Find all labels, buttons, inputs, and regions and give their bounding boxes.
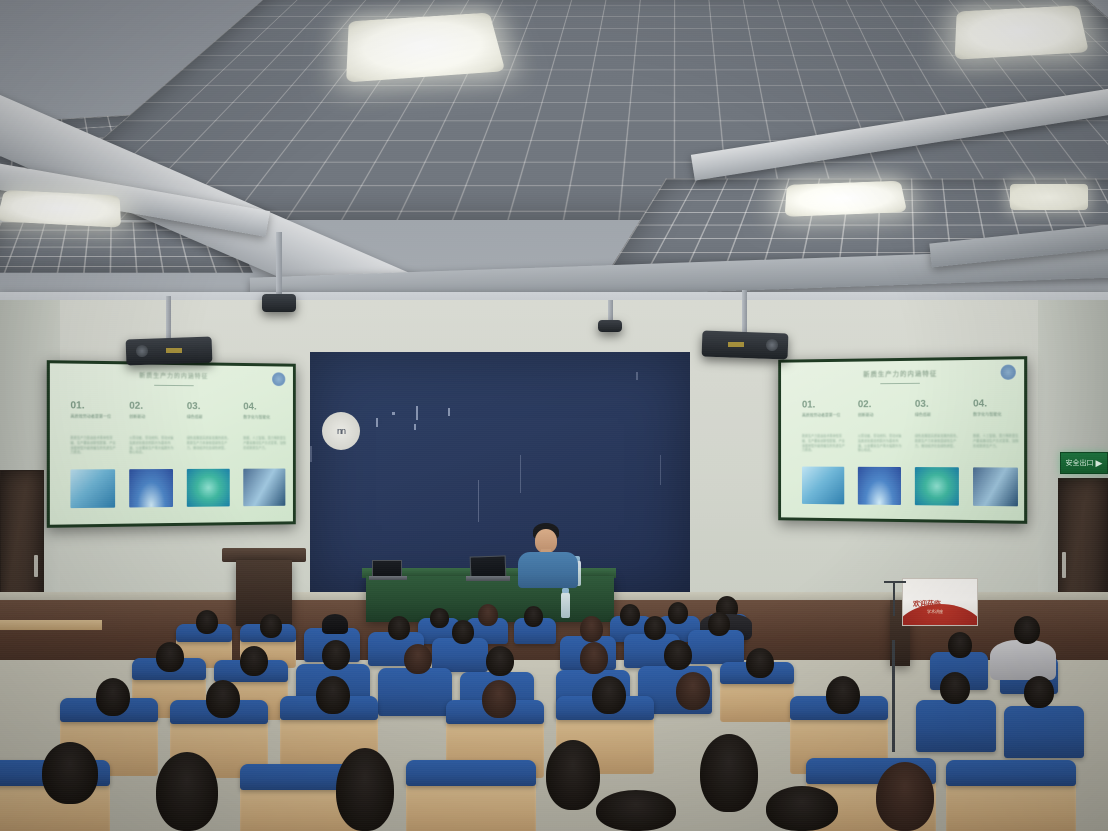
- audience-head: [1014, 616, 1040, 644]
- slide-column: 04. 数字化与智能化 数据、人工智能、算力等新型生产要素推动生产方式变革，加快…: [973, 398, 1020, 448]
- seat[interactable]: [1004, 706, 1084, 758]
- ceiling-light-4: [0, 190, 121, 228]
- thumbnail-digital-grid: [70, 469, 115, 508]
- slide-column-number: 01.: [70, 400, 117, 411]
- projector-mount-left: [166, 296, 171, 340]
- audience-head: [322, 640, 350, 670]
- audience-head: [452, 620, 474, 644]
- audience-head: [766, 786, 838, 831]
- slide-column-number: 03.: [915, 399, 961, 410]
- slide-column-heading: 高质效劳动者是第一位: [70, 413, 117, 419]
- audience-head: [388, 616, 410, 640]
- audience-head: [430, 608, 449, 628]
- backdrop-emblem: nn: [322, 412, 360, 450]
- audience-head: [96, 678, 130, 716]
- slide-column-number: 01.: [802, 399, 846, 410]
- audience-shoulders: [990, 640, 1056, 680]
- welcome-banner: 欢迎莅临 学术讲座: [902, 578, 978, 626]
- backdrop-speck: [416, 406, 418, 420]
- presenter: [518, 552, 578, 588]
- slide-column: 04. 数字化与智能化 数据、人工智能、算力等新型生产要素推动生产方式变革，加快…: [243, 402, 287, 451]
- audience-head: [1024, 676, 1054, 708]
- running-person-icon: ▶: [1096, 458, 1103, 469]
- audience-head: [524, 606, 543, 627]
- slide-column-body: 新质生产力是由技术革命性突破、生产要素创新性配置、产业深度转型升级而催生的先进生…: [70, 436, 117, 456]
- side-table: [0, 620, 102, 630]
- audience-head: [676, 672, 710, 710]
- backdrop-speck: [392, 412, 395, 415]
- slide-column-body: 数据、人工智能、算力等新型生产要素推动生产方式变革，加快形成新质生产力。: [243, 436, 287, 450]
- audience-head: [876, 762, 934, 831]
- slide-column-number: 02.: [858, 399, 903, 410]
- audience-head: [42, 742, 98, 804]
- audience-head: [336, 748, 394, 831]
- projector-brand-label-left: [166, 348, 182, 353]
- projection-screen-left[interactable]: 新质生产力的内涵特征 01. 高质效劳动者是第一位 新质生产力是由技术革命性突破…: [47, 360, 296, 528]
- backdrop-speck: [636, 372, 638, 380]
- water-bottle-floor[interactable]: [561, 592, 570, 618]
- slide-column-heading: 数字化与智能化: [973, 411, 1020, 417]
- projection-screen-right[interactable]: 新质生产力的内涵特征 01. 高质效劳动者是第一位 新质生产力是由技术革命性突破…: [778, 356, 1027, 524]
- audience-head: [546, 740, 600, 810]
- backdrop-speck: [310, 446, 312, 462]
- slide-column-heading: 高质效劳动者是第一位: [802, 412, 846, 418]
- audience-head: [700, 734, 758, 812]
- seat[interactable]: [946, 760, 1076, 786]
- ceiling-speaker-center: [262, 294, 296, 312]
- projector-mount-center: [276, 232, 282, 294]
- audience-head: [664, 640, 692, 670]
- lecture-hall-photo: nn 新质生产力的内涵特征 01. 高质效劳动者是第一位 新质生产力是由技术革命…: [0, 0, 1108, 831]
- thumbnail-blue-gradient: [129, 469, 173, 507]
- slide-title: 新质生产力的内涵特征: [781, 366, 1024, 379]
- slide-column: 01. 高质效劳动者是第一位 新质生产力是由技术革命性突破、生产要素创新性配置、…: [70, 400, 117, 455]
- projector-mount-center-right: [608, 300, 613, 322]
- backdrop-speck: [478, 480, 479, 522]
- microphone-boom: [884, 581, 906, 583]
- slide-column: 01. 高质效劳动者是第一位 新质生产力是由技术革命性突破、生产要素创新性配置、…: [802, 399, 846, 453]
- door-right-handle[interactable]: [1062, 552, 1066, 578]
- slide-column: 02. 创新驱动 以劳动者、劳动资料、劳动对象及其优化组合的跃升为基本内涵，以全…: [129, 401, 175, 456]
- university-seal-logo: [1001, 364, 1016, 379]
- audience-head: [240, 646, 268, 676]
- projector-lens-left: [136, 345, 148, 357]
- audience-head: [580, 642, 608, 674]
- thumbnail-hands-device: [973, 467, 1018, 506]
- laptop-base[interactable]: [466, 576, 510, 581]
- audience-head: [940, 672, 970, 704]
- slide-column-number: 02.: [129, 401, 175, 412]
- door-left-handle[interactable]: [34, 555, 38, 577]
- seat[interactable]: [378, 668, 452, 716]
- slide-title-rule: [881, 383, 920, 384]
- audience-head: [486, 646, 514, 676]
- slide-column-heading: 创新驱动: [858, 412, 903, 418]
- slide-column: 02. 创新驱动 以劳动者、劳动资料、劳动对象及其优化组合的跃升为基本内涵，以全…: [858, 399, 903, 453]
- audience-head: [668, 602, 688, 624]
- slide-column: 03. 绿色低碳 绿色发展是高质量发展的底色，新质生产力本身就是绿色生产力，推动…: [915, 399, 961, 449]
- thumbnail-green-globe: [187, 469, 230, 507]
- slide-column-body: 以劳动者、劳动资料、劳动对象及其优化组合的跃升为基本内涵，以全要素生产率大幅提升…: [858, 434, 903, 453]
- ceiling-light-2: [955, 5, 1089, 59]
- thumbnail-blue-gradient: [858, 467, 901, 505]
- audience-head: [620, 604, 640, 626]
- audience-head: [826, 676, 860, 714]
- backdrop-speck: [448, 408, 450, 416]
- audience-head: [316, 676, 350, 714]
- slide-column-heading: 数字化与智能化: [243, 414, 287, 420]
- water-bottle-floor-cap: [562, 588, 569, 593]
- slide-column-body: 新质生产力是由技术革命性突破、生产要素创新性配置、产业深度转型升级而催生的先进生…: [802, 434, 846, 453]
- audience-head: [478, 604, 498, 626]
- audience-head: [196, 610, 218, 634]
- audience-head-with-cap: [322, 614, 348, 634]
- university-seal-logo: [272, 372, 285, 386]
- audience-head: [746, 648, 774, 678]
- exit-sign-text: 安全出口: [1066, 458, 1094, 468]
- audience-head: [596, 790, 676, 831]
- slide-column-number: 03.: [187, 401, 232, 412]
- backdrop-speck: [414, 424, 416, 430]
- slide-title: 新质生产力的内涵特征: [50, 369, 293, 381]
- slide-title-rule: [154, 385, 193, 386]
- audience-head: [592, 676, 626, 714]
- banner-subtitle: 学术讲座: [927, 609, 943, 615]
- slide-column: 03. 绿色低碳 绿色发展是高质量发展的底色，新质生产力本身就是绿色生产力，推动…: [187, 401, 232, 450]
- microphone-pole-lower: [892, 640, 895, 752]
- slide-column-number: 04.: [243, 402, 287, 413]
- slide-column-body: 绿色发展是高质量发展的底色，新质生产力本身就是绿色生产力，推动经济社会绿色转型。: [187, 436, 232, 450]
- audience-head: [156, 642, 184, 672]
- audience-head: [948, 632, 972, 658]
- thumbnail-digital-grid: [802, 467, 844, 505]
- microphone-stand: [893, 582, 895, 616]
- backdrop-speck: [520, 455, 521, 493]
- slide-column-body: 绿色发展是高质量发展的底色，新质生产力本身就是绿色生产力，推动经济社会绿色转型。: [915, 434, 961, 449]
- slide-column-heading: 绿色低碳: [915, 412, 961, 418]
- projector-mount-right: [742, 290, 747, 334]
- backdrop-speck: [376, 418, 378, 427]
- slide-column-number: 04.: [973, 398, 1020, 409]
- projector-brand-label-right: [728, 342, 744, 347]
- audience-head: [206, 680, 240, 718]
- thumbnail-hands-device: [243, 469, 285, 507]
- ceiling-light-3: [785, 181, 908, 217]
- thumbnail-green-globe: [915, 467, 959, 506]
- audience-head: [708, 612, 730, 636]
- audience-head: [580, 616, 603, 642]
- seat[interactable]: [916, 700, 996, 752]
- audience-head: [260, 614, 282, 638]
- ceiling-light-1: [346, 13, 505, 83]
- ceiling-speaker-center-right: [598, 320, 622, 332]
- slide-column-heading: 绿色低碳: [187, 414, 232, 420]
- audience-head: [404, 644, 432, 674]
- banner-title: 欢迎莅临: [913, 599, 941, 609]
- audience-head: [156, 752, 218, 831]
- projector-lens-right: [766, 339, 778, 351]
- ceiling-light-5: [1010, 184, 1088, 210]
- audience-head: [482, 680, 516, 718]
- backdrop-speck: [660, 455, 661, 485]
- slide-column-heading: 创新驱动: [129, 414, 175, 420]
- seat[interactable]: [406, 760, 536, 786]
- slide-column-body: 数据、人工智能、算力等新型生产要素推动生产方式变革，加快形成新质生产力。: [973, 434, 1020, 449]
- laptop-base-secondary[interactable]: [369, 576, 407, 580]
- slide-column-body: 以劳动者、劳动资料、劳动对象及其优化组合的跃升为基本内涵，以全要素生产率大幅提升…: [129, 436, 175, 455]
- audience-head: [644, 616, 666, 640]
- exit-sign: 安全出口 ▶: [1060, 452, 1108, 474]
